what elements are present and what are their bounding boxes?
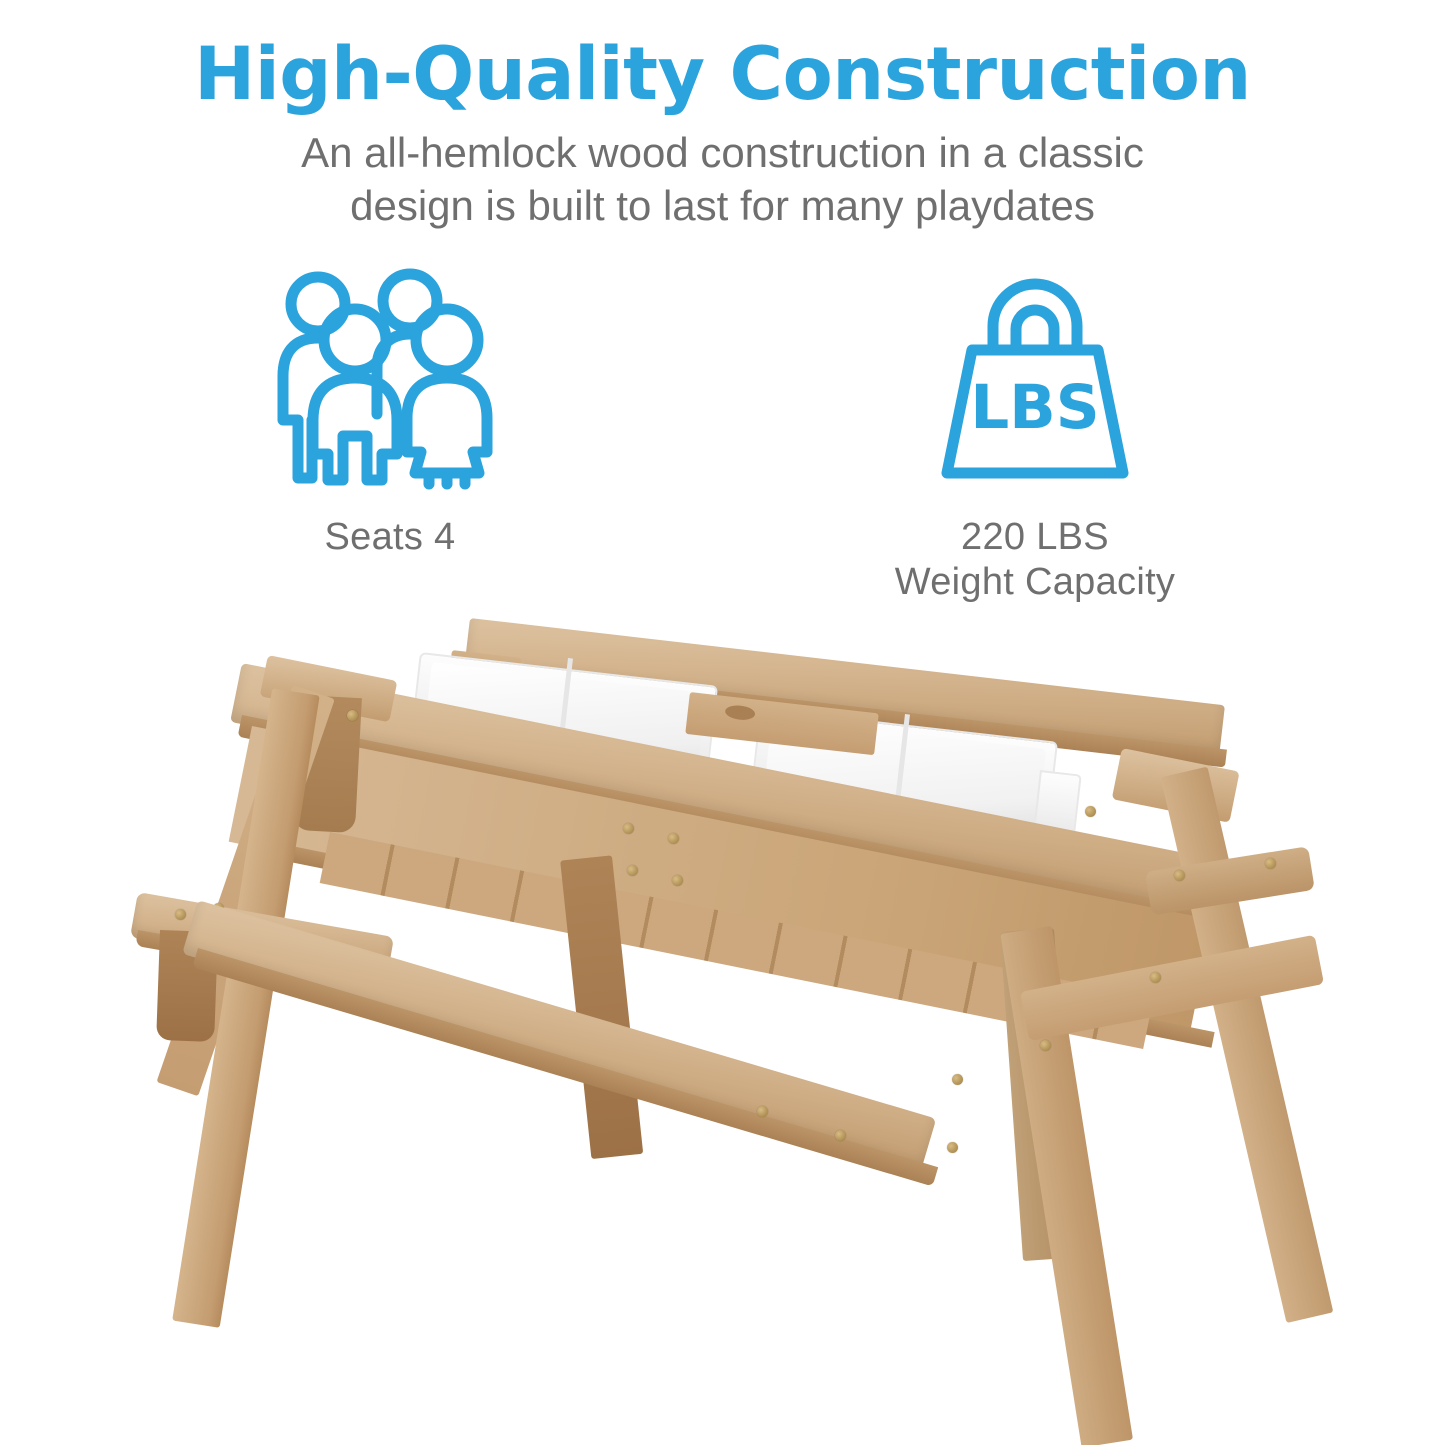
feature-seats-caption: Seats 4: [170, 515, 610, 560]
leg-joint-screw: [952, 1074, 963, 1085]
leg-joint-screw: [1174, 870, 1185, 881]
apron-screw: [668, 833, 679, 844]
infographic-page: High-Quality Construction An all-hemlock…: [0, 0, 1445, 1445]
table-left-bracket-screw: [347, 710, 358, 721]
feature-weight-caption-line-2: Weight Capacity: [815, 560, 1255, 605]
feature-row: Seats 4 LBS 220 LBS: [0, 258, 1445, 628]
bench-seat-left-screw: [175, 909, 186, 920]
apron-screw: [623, 823, 634, 834]
page-subtitle: An all-hemlock wood construction in a cl…: [0, 126, 1445, 232]
feature-weight-capacity: LBS 220 LBS Weight Capacity: [815, 258, 1255, 605]
page-title: High-Quality Construction: [0, 34, 1445, 116]
page-subtitle-line-2: design is built to last for many playdat…: [0, 179, 1445, 232]
page-subtitle-line-1: An all-hemlock wood construction in a cl…: [0, 126, 1445, 179]
bench-rail-front-screw: [757, 1106, 768, 1117]
apron-screw: [672, 875, 683, 886]
weight-bag-lbs-icon: LBS: [815, 258, 1255, 493]
bench-rail-front-screw: [835, 1130, 846, 1141]
apron-screw: [627, 865, 638, 876]
product-image: [0, 600, 1445, 1445]
bench-seat-right-screw: [1265, 858, 1276, 869]
feature-weight-caption: 220 LBS Weight Capacity: [815, 515, 1255, 605]
feature-weight-caption-line-1: 220 LBS: [815, 515, 1255, 560]
family-four-people-icon: [170, 258, 610, 493]
weight-bag-lbs-label: LBS: [970, 372, 1099, 443]
leg-joint-screw: [1150, 972, 1161, 983]
leg-joint-screw: [947, 1142, 958, 1153]
feature-seats-caption-line-1: Seats 4: [170, 515, 610, 560]
leg-joint-screw: [1085, 806, 1096, 817]
feature-seats: Seats 4: [170, 258, 610, 560]
leg-joint-screw: [1040, 1040, 1051, 1051]
